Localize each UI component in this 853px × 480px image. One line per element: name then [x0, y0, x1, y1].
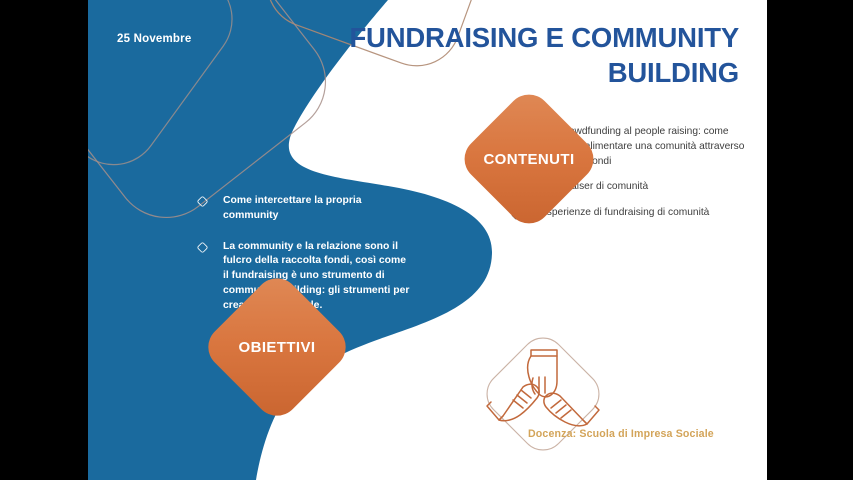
title-line-1: FUNDRAISING E COMMUNITY — [349, 22, 739, 53]
diamond-outline-icon — [196, 241, 209, 254]
letterbox-bar-left — [0, 0, 88, 480]
list-item-text: Come intercettare la propria community — [223, 194, 411, 224]
slide-title: FUNDRAISING E COMMUNITY BUILDING — [309, 20, 739, 90]
badge-obiettivi-label: OBIETTIVI — [239, 339, 316, 356]
letterbox-bar-right — [767, 0, 853, 480]
diamond-outline-icon — [196, 195, 209, 208]
video-player-stage: 25 Novembre FUNDRAISING E COMMUNITY BUIL… — [0, 0, 853, 480]
credit-text: Docenza: Scuola di Impresa Sociale — [528, 428, 714, 440]
title-line-2: BUILDING — [309, 55, 739, 90]
slide-date: 25 Novembre — [117, 33, 191, 45]
presentation-slide: 25 Novembre FUNDRAISING E COMMUNITY BUIL… — [88, 0, 767, 480]
badge-obiettivi: OBIETTIVI — [222, 292, 332, 402]
badge-contenuti: CONTENUTI — [477, 107, 581, 211]
badge-contenuti-label: CONTENUTI — [483, 151, 574, 168]
list-item: Come intercettare la propria community — [196, 194, 411, 224]
